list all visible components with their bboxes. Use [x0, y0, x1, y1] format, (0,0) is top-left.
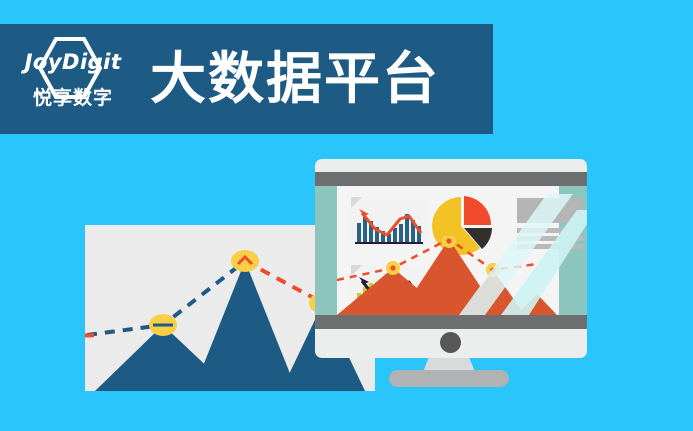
monitor: [315, 159, 587, 358]
card-fold-corner: [351, 197, 362, 208]
mountain-orange-far-right: [517, 294, 557, 315]
logo-wordmark: JoyDigit: [25, 52, 122, 73]
mountain-node-right-center: [490, 267, 495, 272]
screen-side-band-left: [315, 186, 337, 315]
mountain-node-peak-center: [446, 238, 451, 243]
placeholder-image-area: [517, 198, 583, 223]
illustration-canvas: JoyDigit 悦享数字 大数据平台: [0, 0, 693, 431]
monitor-stand-base: [389, 370, 509, 387]
placeholder-line: [517, 228, 583, 233]
monitor-power-button[interactable]: [440, 332, 461, 353]
data-node-peak: [231, 250, 259, 272]
logo-subtext: 悦享数字: [33, 89, 113, 108]
header-banner: JoyDigit 悦享数字 大数据平台: [0, 24, 493, 134]
widget-mountain-chart: [337, 236, 559, 315]
page-title: 大数据平台: [150, 51, 440, 107]
bar-chart-blue-arrow-icon: [359, 209, 369, 216]
monitor-bezel-top: [315, 172, 587, 186]
mountain-chart-graphic: [337, 236, 559, 315]
monitor-screen: [315, 186, 587, 315]
brand-logo: JoyDigit 悦享数字: [14, 33, 132, 125]
mountain-node-left-center: [390, 265, 395, 270]
monitor-bezel-bottom: [315, 315, 587, 329]
pie-slice-red: [464, 196, 491, 225]
